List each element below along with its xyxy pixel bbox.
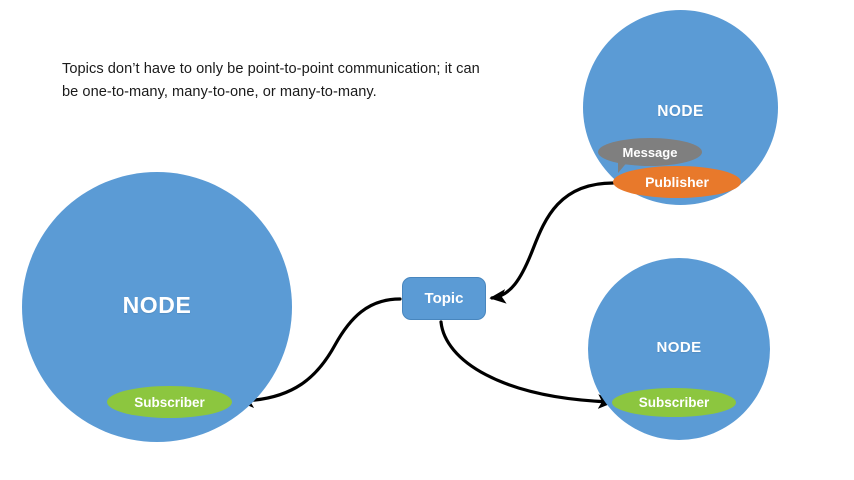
- subscriber-left[interactable]: Subscriber: [107, 386, 232, 418]
- publisher-top-right[interactable]: Publisher: [613, 166, 741, 198]
- diagram-canvas: Topics don’t have to only be point-to-po…: [0, 0, 854, 480]
- node-bottom-right-label: NODE: [588, 339, 770, 356]
- message-label: Message: [623, 145, 678, 160]
- caption-text: Topics don’t have to only be point-to-po…: [62, 58, 482, 103]
- edge-topic-to-bottom-right-subscriber: [441, 322, 612, 402]
- node-top-right-label: NODE: [583, 103, 778, 121]
- subscriber-bottom-right[interactable]: Subscriber: [612, 388, 736, 417]
- message-bubble[interactable]: Message: [598, 138, 702, 166]
- node-left-label: NODE: [22, 292, 292, 319]
- edge-publisher-to-topic: [492, 183, 613, 298]
- topic-box[interactable]: Topic: [402, 277, 486, 320]
